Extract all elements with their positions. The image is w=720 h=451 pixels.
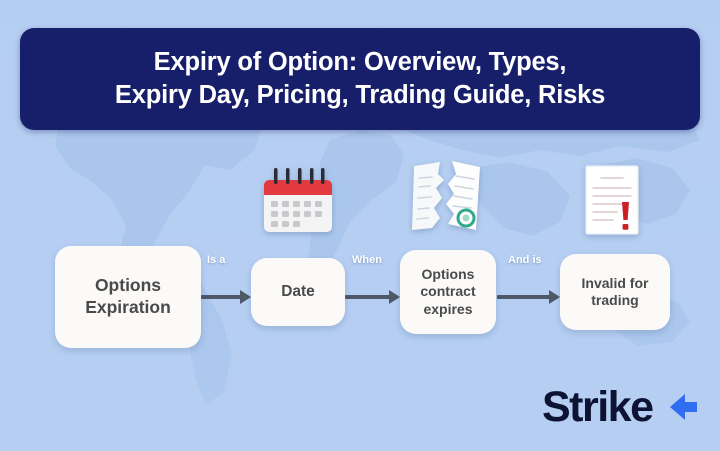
- arrow-label-and-is: And is: [508, 254, 542, 266]
- arrow-shaft: [201, 295, 241, 299]
- flow-node-invalid-for-trading: Invalid for trading: [560, 254, 670, 330]
- arrow-label-when: When: [352, 254, 382, 266]
- arrow-shaft: [497, 295, 550, 299]
- arrow-contract-expires-to-invalid: [497, 290, 560, 304]
- calendar-icon: [258, 162, 338, 236]
- strike-logo-arrow: [670, 394, 697, 420]
- flow-node-options-contract-expires: Options contract expires: [400, 250, 496, 334]
- page-title-line-1: Expiry of Option: Overview, Types,: [115, 46, 605, 79]
- torn-document-icon: [404, 158, 490, 238]
- arrow-head: [240, 290, 251, 304]
- invalid-document-icon: [581, 162, 643, 240]
- arrow-shaft: [345, 295, 390, 299]
- title-banner: Expiry of Option: Overview, Types, Expir…: [20, 28, 700, 130]
- flow-node-label: Options Expiration: [55, 275, 201, 318]
- arrow-head: [549, 290, 560, 304]
- flow-node-date: Date: [251, 258, 345, 326]
- arrow-label-is-a: Is a: [207, 254, 225, 266]
- flow-node-label: Invalid for trading: [560, 275, 670, 310]
- flow-diagram: Is a When And is Options Expiration Date…: [0, 140, 720, 370]
- flow-node-label: Date: [273, 282, 323, 301]
- page-title: Expiry of Option: Overview, Types, Expir…: [99, 46, 621, 111]
- strike-logo-wordmark: Strike: [542, 383, 653, 431]
- arrow-head: [389, 290, 400, 304]
- arrow-date-to-contract-expires: [345, 290, 400, 304]
- arrow-options-expiration-to-date: [201, 290, 251, 304]
- page-title-line-2: Expiry Day, Pricing, Trading Guide, Risk…: [115, 79, 605, 112]
- flow-node-label: Options contract expires: [400, 266, 496, 318]
- flow-node-options-expiration: Options Expiration: [55, 246, 201, 348]
- strike-logo: Strike: [542, 379, 702, 435]
